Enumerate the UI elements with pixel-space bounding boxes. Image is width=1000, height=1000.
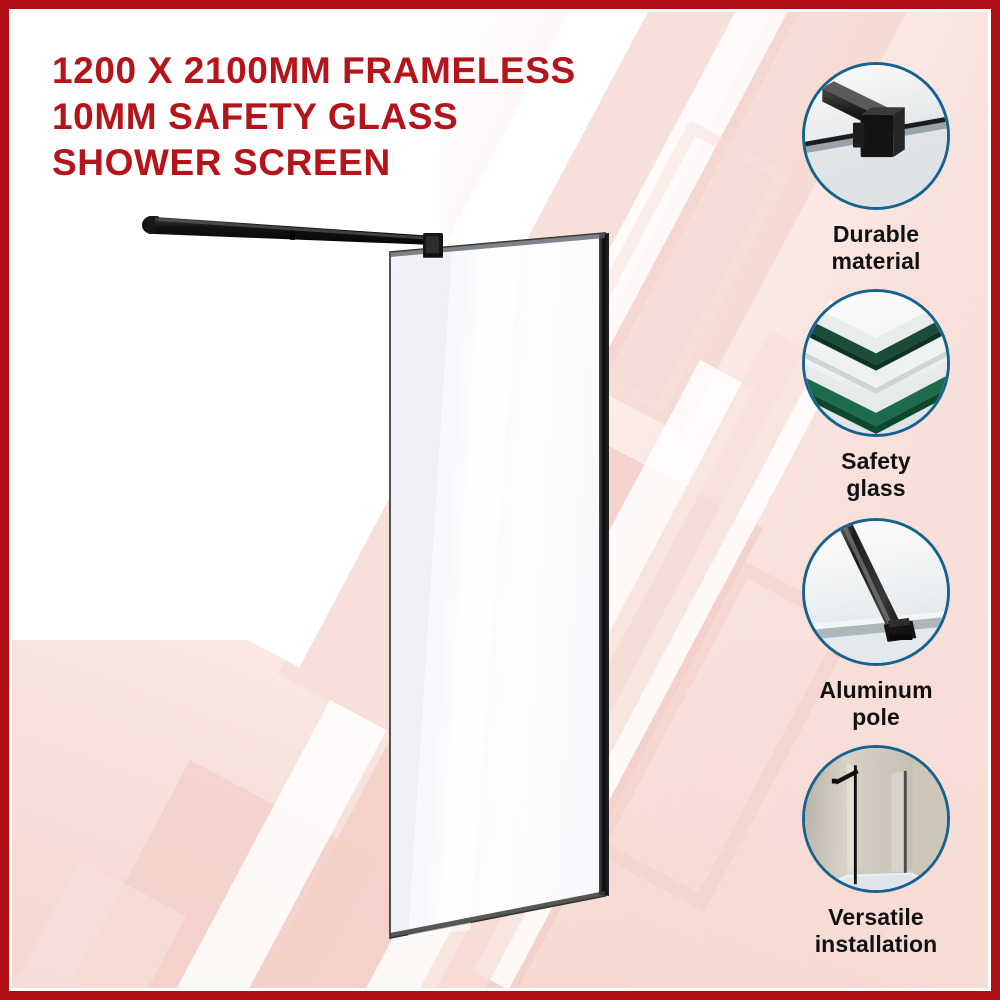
feature-item-safety-glass: Safety glass (770, 289, 982, 502)
feature-item-aluminum-pole: Aluminum pole (770, 518, 982, 731)
title-line-2: 10mm Safety Glass (52, 94, 692, 140)
feature-label-line-2: pole (770, 704, 982, 731)
feature-label-line-1: Aluminum (770, 677, 982, 704)
feature-item-versatile-installation: Versatile installation (770, 745, 982, 958)
feature-label: Safety glass (770, 448, 982, 502)
feature-label: Versatile installation (770, 904, 982, 958)
feature-label-line-2: glass (770, 475, 982, 502)
feature-icon-circle (802, 289, 950, 437)
feature-item-durable-material: Durable material (770, 62, 982, 275)
feature-icon-circle (802, 745, 950, 893)
support-bar-joint (290, 231, 295, 240)
title-line-3: Shower Screen (52, 140, 692, 186)
feature-list: Durable material (770, 62, 982, 964)
feature-label-line-2: installation (770, 931, 982, 958)
bathroom-installation-icon (805, 748, 947, 890)
bracket-clamp-icon (805, 65, 947, 207)
feature-label-line-1: Versatile (770, 904, 982, 931)
layered-glass-icon (805, 292, 947, 434)
glass-reflection (520, 236, 604, 910)
feature-label-line-2: material (770, 248, 982, 275)
aluminum-pole-icon (805, 521, 947, 663)
glass-clamp-bracket-face (426, 236, 439, 254)
glass-clamp-bracket-shadow (423, 253, 443, 258)
product-poster: 1200 x 2100mm Frameless 10mm Safety Glas… (0, 0, 1000, 1000)
feature-label: Aluminum pole (770, 677, 982, 731)
feature-label: Durable material (770, 221, 982, 275)
feature-label-line-1: Durable (770, 221, 982, 248)
feature-icon-circle (802, 518, 950, 666)
feature-label-line-1: Safety (770, 448, 982, 475)
feature-icon-circle (802, 62, 950, 210)
title-line-1: 1200 x 2100mm Frameless (52, 48, 692, 94)
page-title: 1200 x 2100mm Frameless 10mm Safety Glas… (52, 48, 692, 186)
glass-edge-profile (599, 233, 609, 896)
